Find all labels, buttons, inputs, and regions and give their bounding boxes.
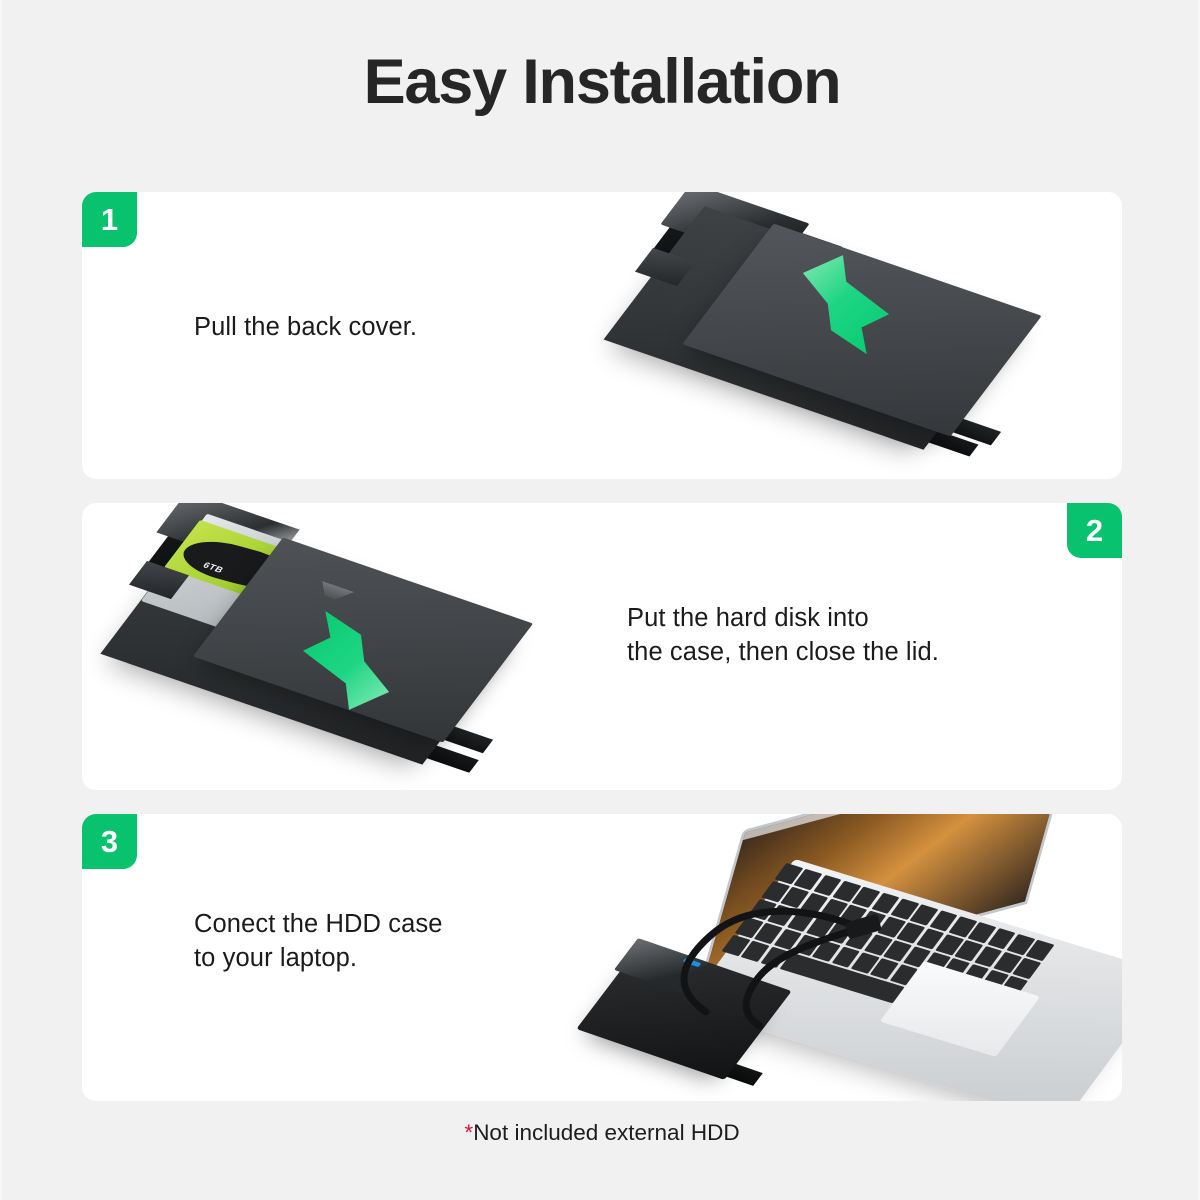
installation-infographic: Easy Installation [0,0,1200,1200]
footnote: *Not included external HDD [2,1120,1200,1146]
step-badge-3: 3 [82,814,137,869]
step-badge-2: 2 [1067,503,1122,558]
step-card-2-inner: 6TB Put the hard d [82,503,1122,790]
green-arrow-up-left-icon [288,607,408,717]
page-title: Easy Installation [2,46,1200,118]
step-card-3-inner: Conect the HDD case to your laptop. [82,814,1122,1101]
step-card-2: 6TB Put the hard d [82,503,1122,790]
step-card-1-inner: Pull the back cover. [82,192,1122,479]
step-1-image [632,192,1112,479]
step-badge-1: 1 [82,192,137,247]
step-card-3: Conect the HDD case to your laptop. 3 [82,814,1122,1101]
step-3-caption: Conect the HDD case to your laptop. [194,907,443,976]
step-2-image: 6TB [112,503,592,790]
step-card-1: Pull the back cover. 1 [82,192,1122,479]
green-arrow-down-right-icon [794,248,914,358]
step-1-caption: Pull the back cover. [194,310,417,344]
footnote-text: Not included external HDD [473,1120,739,1145]
step-2-caption: Put the hard disk into the case, then cl… [627,601,939,670]
footnote-asterisk: * [464,1120,473,1145]
usb-cable [602,826,942,1056]
step-3-image [602,814,1122,1101]
